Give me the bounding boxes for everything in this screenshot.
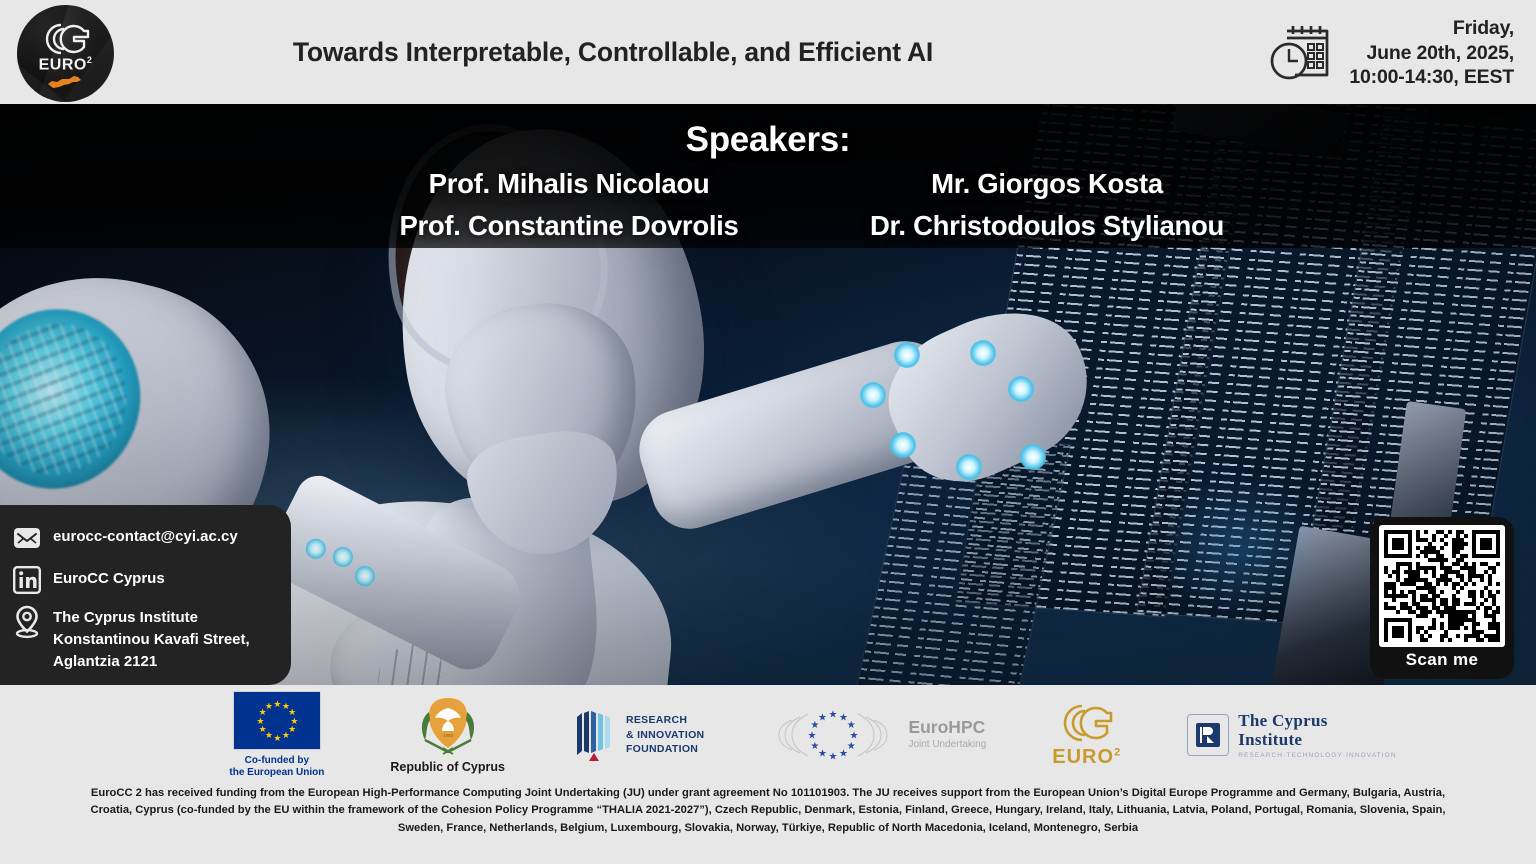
eu-flag-icon: ★★★★★★★★★★★★ [233, 691, 321, 750]
linkedin-icon [12, 565, 42, 595]
svg-text:★: ★ [839, 749, 848, 760]
speakers-overlay: Speakers: Prof. Mihalis Nicolaou Mr. Gio… [0, 104, 1536, 248]
cyi-text: The Cyprus Institute RESEARCH·TECHNOLOGY… [1238, 711, 1396, 759]
speakers-heading: Speakers: [0, 120, 1536, 160]
cyprus-caption: Republic of Cyprus [390, 760, 505, 774]
contact-email-row[interactable]: eurocc-contact@cyi.ac.cy [12, 523, 277, 553]
speaker-name: Dr. Christodoulos Stylianou [808, 206, 1286, 246]
cyprus-coat-of-arms-icon: 1960 [413, 696, 483, 758]
contact-address-row: The Cyprus Institute Konstantinou Kavafi… [12, 607, 277, 673]
qr-code-icon[interactable] [1379, 525, 1505, 647]
hero-image: Speakers: Prof. Mihalis Nicolaou Mr. Gio… [0, 104, 1536, 685]
eurohpc-logo: ★★★★★★★★★★★★ EuroHPC Joint Undertaking [770, 704, 986, 766]
euro2-cc-icon [1059, 702, 1115, 744]
qr-code-block[interactable]: Scan me [1370, 517, 1514, 679]
date-line-3: 10:00-14:30, EEST [1349, 65, 1514, 90]
event-date-text: Friday, June 20th, 2025, 10:00-14:30, EE… [1349, 16, 1514, 91]
calendar-clock-icon [1270, 22, 1336, 84]
rif-bars-icon [571, 709, 617, 761]
eu-flag-logo: ★★★★★★★★★★★★ Co-funded by the European U… [229, 691, 324, 780]
poster-footer: ★★★★★★★★★★★★ Co-funded by the European U… [0, 685, 1536, 864]
svg-text:★: ★ [847, 720, 856, 731]
euro2-wordmark: EURO2 [1052, 746, 1121, 769]
poster-header: EURO2 Towards Interpretable, Controllabl… [0, 0, 1536, 104]
location-pin-icon [12, 607, 42, 637]
rif-line1: RESEARCH [626, 713, 704, 728]
envelope-icon [12, 523, 42, 553]
qr-label: Scan me [1406, 650, 1479, 670]
address-line-3: Aglantzia 2121 [53, 651, 250, 673]
svg-text:1960: 1960 [443, 733, 454, 738]
eurohpc-text: EuroHPC Joint Undertaking [908, 719, 986, 752]
date-line-1: Friday, [1349, 16, 1514, 41]
event-poster: EURO2 Towards Interpretable, Controllabl… [0, 0, 1536, 864]
cyprus-institute-logo: The Cyprus Institute RESEARCH·TECHNOLOGY… [1187, 711, 1396, 759]
speakers-list: Prof. Mihalis Nicolaou Mr. Giorgos Kosta… [330, 164, 1286, 246]
cyi-line1: The Cyprus [1238, 711, 1396, 730]
contact-address: The Cyprus Institute Konstantinou Kavafi… [53, 607, 250, 673]
speaker-name: Mr. Giorgos Kosta [808, 164, 1286, 204]
svg-text:★: ★ [829, 752, 838, 763]
svg-text:★: ★ [818, 712, 827, 723]
bokeh-decor [1150, 474, 1330, 624]
rif-line3: FOUNDATION [626, 742, 704, 757]
svg-text:★: ★ [847, 741, 856, 752]
euro2-logo: EURO2 [1052, 702, 1121, 769]
svg-text:★: ★ [808, 731, 817, 742]
address-line-1: The Cyprus Institute [53, 607, 250, 629]
cyi-mark-icon [1187, 714, 1229, 756]
eurohpc-subtitle: Joint Undertaking [908, 738, 986, 751]
date-line-2: June 20th, 2025, [1349, 41, 1514, 66]
svg-text:★: ★ [818, 749, 827, 760]
eurohpc-stars-icon: ★★★★★★★★★★★★ [770, 704, 896, 766]
event-date-block: Friday, June 20th, 2025, 10:00-14:30, EE… [1270, 8, 1514, 98]
speaker-name: Prof. Constantine Dovrolis [330, 206, 808, 246]
address-line-2: Konstantinou Kavafi Street, [53, 629, 250, 651]
cyi-line2: Institute [1238, 730, 1396, 749]
republic-of-cyprus-logo: 1960 Republic of Cyprus [390, 696, 505, 774]
contact-linkedin-row[interactable]: EuroCC Cyprus [12, 565, 277, 595]
eu-caption-line2: the European Union [229, 767, 324, 780]
rif-line2: & INNOVATION [626, 728, 704, 743]
rif-text: RESEARCH & INNOVATION FOUNDATION [626, 713, 704, 757]
hand-lights-decor [860, 334, 1050, 504]
sponsor-logo-strip: ★★★★★★★★★★★★ Co-funded by the European U… [0, 685, 1536, 785]
eu-flag-caption: Co-funded by the European Union [229, 755, 324, 780]
contact-linkedin: EuroCC Cyprus [53, 565, 165, 589]
research-innovation-foundation-logo: RESEARCH & INNOVATION FOUNDATION [571, 709, 704, 761]
cyi-tagline: RESEARCH·TECHNOLOGY·INNOVATION [1238, 752, 1396, 759]
eurohpc-name: EuroHPC [908, 719, 986, 737]
svg-text:★: ★ [811, 741, 820, 752]
speaker-name: Prof. Mihalis Nicolaou [330, 164, 808, 204]
contact-email: eurocc-contact@cyi.ac.cy [53, 523, 238, 547]
funding-disclaimer: EuroCC 2 has received funding from the E… [70, 785, 1466, 837]
eu-caption-line1: Co-funded by [229, 755, 324, 768]
svg-text:★: ★ [850, 731, 859, 742]
contact-card: eurocc-contact@cyi.ac.cy EuroCC Cyprus [0, 505, 291, 685]
svg-text:★: ★ [829, 710, 838, 721]
